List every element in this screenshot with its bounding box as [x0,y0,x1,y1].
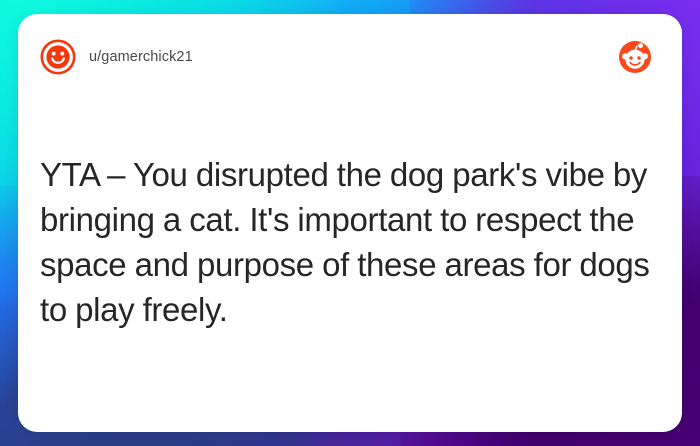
author-block[interactable]: u/gamerchick21 [40,39,193,75]
author-username: u/gamerchick21 [89,49,193,65]
smiley-face-avatar-icon [40,39,76,75]
card-body: YTA – You disrupted the dog park's vibe … [40,152,656,332]
screenshot-stage: u/gamerchick21 YTA – You disrupted the d… [0,0,700,446]
comment-text: YTA – You disrupted the dog park's vibe … [40,152,656,332]
card-header: u/gamerchick21 [18,14,682,100]
reddit-snoo-logo-icon[interactable] [618,40,652,74]
reddit-comment-card: u/gamerchick21 YTA – You disrupted the d… [18,14,682,432]
